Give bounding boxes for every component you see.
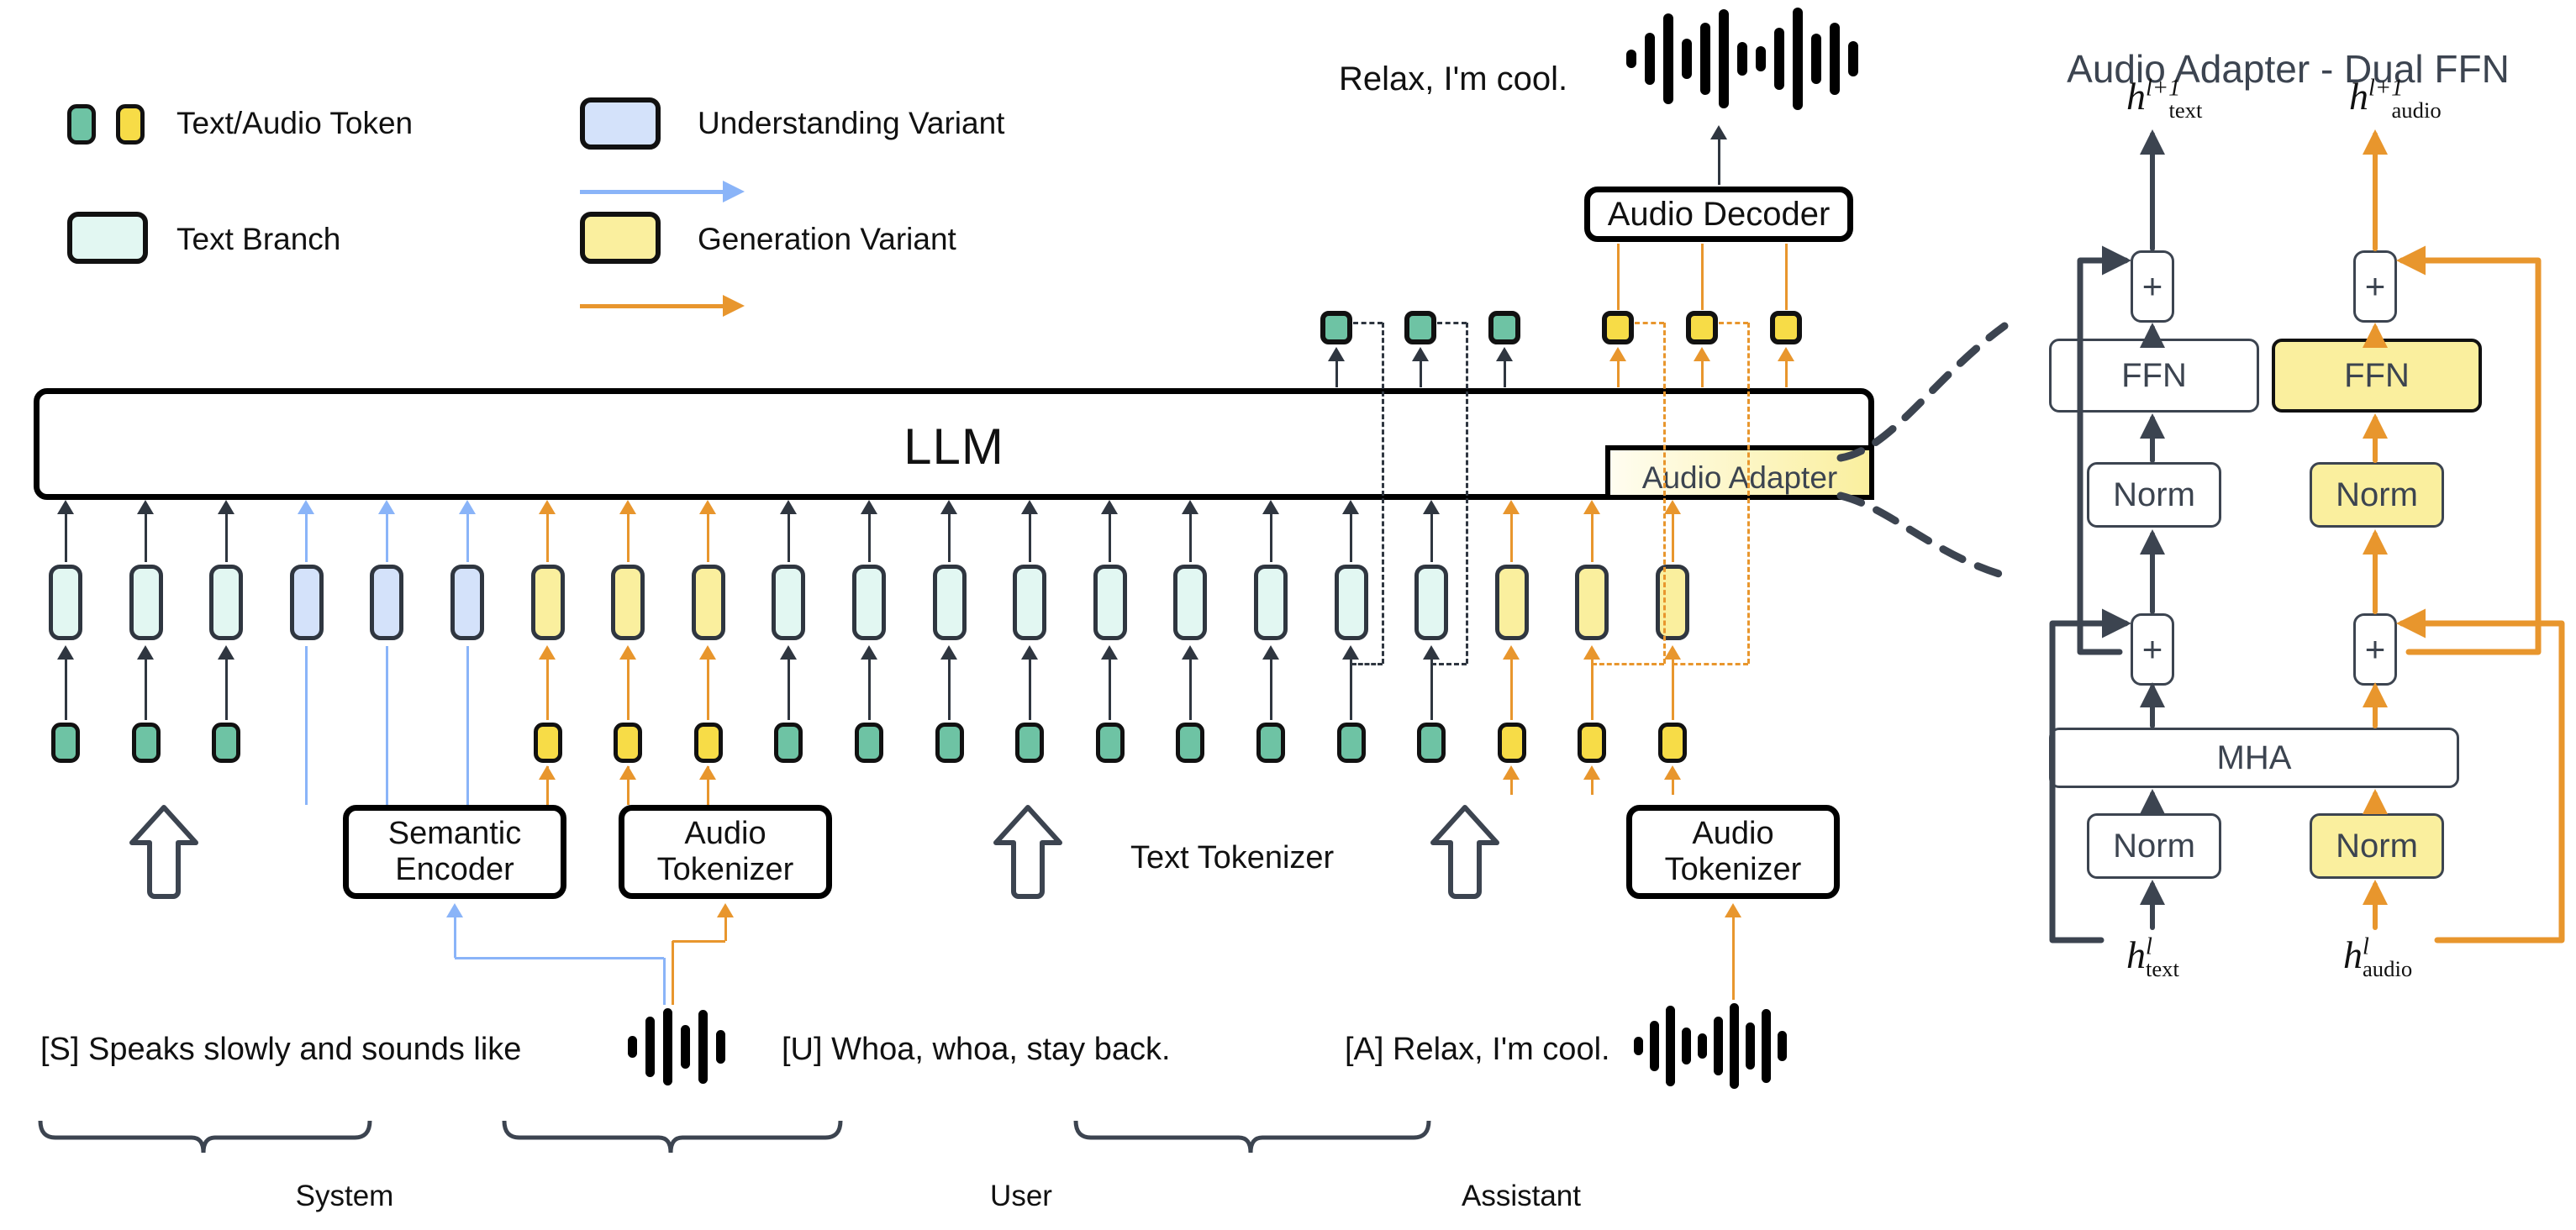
variant-box-text[interactable] — [1013, 565, 1046, 640]
arrow-to-llm — [868, 501, 871, 562]
arrow-head — [699, 500, 716, 514]
arrow-shaft — [1350, 512, 1352, 562]
arrow-shaft — [1672, 778, 1674, 795]
variant-box-generation[interactable] — [1575, 565, 1609, 640]
variant-box-understanding[interactable] — [290, 565, 324, 640]
waveform-bar — [1737, 42, 1747, 76]
arrow-head — [1609, 347, 1626, 361]
waveform-bar — [1682, 1028, 1691, 1064]
audio-tokenizer-box-assistant[interactable]: Audio Tokenizer — [1626, 805, 1840, 899]
system-turn-text: [S] Speaks slowly and sounds like — [40, 1032, 521, 1068]
arrow-token-to-variant — [1270, 646, 1272, 720]
arrow-shaft — [724, 916, 727, 941]
arrow-shaft — [707, 778, 709, 795]
arrow-head — [446, 903, 463, 917]
arrow-shaft — [707, 512, 709, 562]
arrow-to-llm — [788, 501, 790, 562]
arrow-to-llm — [1591, 501, 1594, 562]
input-token-audio[interactable] — [1658, 723, 1687, 763]
arrow-shaft — [868, 658, 871, 720]
arrow-shaft — [466, 512, 469, 562]
arrow-shaft — [1510, 658, 1513, 720]
arrow-token-to-variant — [1189, 646, 1192, 720]
audio-adapter-panel: Audio Adapter - Dual FFN hl+1text hl+1au… — [2000, 0, 2576, 1230]
arrow-to-llm — [627, 501, 630, 562]
arrow-head — [57, 645, 74, 660]
arrow-shaft — [948, 658, 951, 720]
segment-label-system: System — [261, 1180, 429, 1213]
arrow-token-to-variant — [1350, 646, 1352, 720]
wire-sys-audio-blue-h — [455, 957, 664, 959]
input-token-audio[interactable] — [694, 723, 723, 763]
plus-glyph: + — [2142, 266, 2163, 307]
variant-box-text[interactable] — [209, 565, 243, 640]
audio-tokenizer-label-2: Tokenizer — [657, 852, 794, 888]
waveform-bar — [1719, 9, 1729, 108]
arrow-head — [717, 903, 734, 917]
text-residual-ffn — [2080, 260, 2126, 652]
arrow-to-llm — [1189, 501, 1192, 562]
arrow-token-to-variant — [868, 646, 871, 720]
arrow-shaft — [1109, 658, 1111, 720]
arrow-to-audio-tokenizer-assistant — [1732, 904, 1735, 1000]
text-add-top: + — [2131, 250, 2174, 323]
arrow-to-llm — [1270, 501, 1272, 562]
input-token-audio[interactable] — [1498, 723, 1526, 763]
system-waveform — [624, 1008, 730, 1085]
assistant-turn-text: [A] Relax, I'm cool. — [1345, 1032, 1610, 1068]
waveform-bar — [1698, 1033, 1707, 1059]
arrow-token-to-variant — [1109, 646, 1111, 720]
arrow-head — [1710, 125, 1727, 139]
input-token-text[interactable] — [935, 723, 964, 763]
arrow-shaft — [1109, 512, 1111, 562]
input-label-text: hltext — [2126, 933, 2179, 982]
user-turn-text: [U] Whoa, whoa, stay back. — [782, 1032, 1171, 1068]
legend: Text/Audio Token Understanding Variant T… — [50, 92, 1227, 260]
arrow-head — [1342, 645, 1359, 660]
wire-output-to-decoder — [1617, 244, 1620, 310]
arrow-to-llm — [1510, 501, 1513, 562]
arrow-head — [1694, 347, 1710, 361]
waveform-bar — [1650, 1021, 1659, 1071]
wire-output-to-decoder — [1701, 244, 1704, 310]
arrow-shaft — [65, 512, 67, 562]
arrow-decoder-to-waveform — [1718, 126, 1720, 185]
audio-ffn-label: FFN — [2344, 357, 2410, 395]
arrow-shaft — [1189, 658, 1192, 720]
output-token-audio[interactable] — [1686, 311, 1718, 344]
arrow-head — [298, 500, 314, 514]
waveform-bar — [1793, 8, 1803, 110]
brace-assistant — [1076, 1121, 1429, 1153]
arrow-head — [1664, 500, 1681, 514]
output-token-audio[interactable] — [1602, 311, 1634, 344]
dashed-feedback-v — [1747, 323, 1750, 664]
arrow-llm-to-output — [1420, 348, 1422, 387]
dashed-feedback-v — [1466, 323, 1468, 664]
legend-label-understanding-variant: Understanding Variant — [698, 106, 1004, 141]
waveform-bar — [628, 1036, 637, 1058]
variant-box-text[interactable] — [1173, 565, 1207, 640]
text-tokenizer-arrow-user — [992, 803, 1064, 901]
arrow-token-to-variant — [1510, 646, 1513, 720]
arrow-shaft — [1270, 512, 1272, 562]
arrow-token-to-variant — [948, 646, 951, 720]
dashed-feedback-h — [1353, 322, 1383, 324]
waveform-bar — [1830, 23, 1840, 95]
arrow-head — [1182, 500, 1198, 514]
arrow-to-llm — [386, 501, 388, 562]
variant-box-generation[interactable] — [692, 565, 725, 640]
arrow-llm-to-output — [1701, 348, 1704, 387]
arrow-shaft — [868, 512, 871, 562]
text-ffn-box[interactable]: FFN — [2049, 339, 2259, 413]
wire-semantic-encoder — [466, 646, 469, 805]
waveform-bar — [1666, 1006, 1675, 1086]
audio-adapter-label: Audio Adapter — [1610, 460, 1869, 496]
arrow-head — [1664, 645, 1681, 660]
waveform-bar — [1663, 13, 1673, 104]
arrow-head — [137, 645, 154, 660]
variant-box-text[interactable] — [1093, 565, 1127, 640]
dashed-feedback-h — [1719, 322, 1748, 324]
input-token-text[interactable] — [1176, 723, 1204, 763]
waveform-bar — [698, 1010, 708, 1084]
arrow-head — [780, 500, 797, 514]
variant-box-generation[interactable] — [611, 565, 645, 640]
arrow-shaft — [145, 658, 147, 720]
arrow-head — [1328, 347, 1345, 361]
audio-add-top: + — [2353, 250, 2397, 323]
waveform-bar — [645, 1017, 655, 1077]
arrow-shaft — [1029, 658, 1031, 720]
arrow-to-llm — [65, 501, 67, 562]
audio-add-mid: + — [2353, 613, 2397, 686]
input-token-audio[interactable] — [534, 723, 562, 763]
arrow-head — [619, 645, 636, 660]
input-token-audio[interactable] — [1578, 723, 1606, 763]
audio-adapter-box[interactable]: Audio Adapter — [1605, 445, 1874, 500]
arrow-to-llm — [948, 501, 951, 562]
input-token-text[interactable] — [774, 723, 803, 763]
segment-label-user: User — [937, 1180, 1105, 1213]
arrow-audio-tokenizer-to-token — [707, 766, 709, 795]
variant-box-generation[interactable] — [1656, 565, 1689, 640]
input-token-text[interactable] — [855, 723, 883, 763]
arrow-shaft — [1029, 512, 1031, 562]
arrow-token-to-variant — [1029, 646, 1031, 720]
arrow-llm-to-output — [1617, 348, 1620, 387]
plus-glyph: + — [2365, 266, 2386, 307]
waveform-bar — [1730, 1003, 1739, 1089]
variant-box-text[interactable] — [933, 565, 967, 640]
arrow-head — [619, 765, 636, 780]
output-token-audio[interactable] — [1770, 311, 1802, 344]
arrow-shaft — [1504, 360, 1506, 387]
input-token-text[interactable] — [1256, 723, 1285, 763]
waveform-bar — [1700, 23, 1710, 95]
input-token-text[interactable] — [1337, 723, 1366, 763]
arrow-audio-tokenizer-to-token — [1672, 766, 1674, 795]
arrow-shaft — [1430, 658, 1433, 720]
plus-glyph: + — [2142, 629, 2163, 670]
arrow-head — [1503, 645, 1520, 660]
arrow-token-to-variant — [1591, 646, 1594, 720]
arrow-shaft — [65, 658, 67, 720]
arrow-to-llm — [707, 501, 709, 562]
text-norm-mha-box[interactable]: Norm — [2087, 813, 2221, 879]
arrow-head — [218, 645, 234, 660]
arrow-head — [1342, 500, 1359, 514]
variant-box-understanding[interactable] — [450, 565, 484, 640]
arrow-head — [699, 645, 716, 660]
arrow-shaft — [627, 778, 630, 795]
input-token-text[interactable] — [212, 723, 240, 763]
brace-user — [504, 1121, 840, 1153]
arrow-head — [137, 500, 154, 514]
assistant-output-text: Relax, I'm cool. — [1339, 60, 1567, 98]
audio-norm-ffn-label: Norm — [2336, 476, 2418, 514]
waveform-bar — [1848, 41, 1858, 76]
arrow-head — [1262, 645, 1279, 660]
text-norm-ffn-box[interactable]: Norm — [2087, 462, 2221, 528]
arrow-shaft — [1510, 512, 1513, 562]
output-token-text[interactable] — [1404, 311, 1436, 344]
waveform-bar — [1778, 1031, 1787, 1061]
waveform-bar — [1645, 33, 1655, 85]
input-label-audio: hlaudio — [2343, 933, 2412, 982]
variant-box-text[interactable] — [49, 565, 82, 640]
input-token-text[interactable] — [1096, 723, 1125, 763]
waveform-bar — [1762, 1009, 1771, 1083]
arrow-audio-tokenizer-to-token — [1591, 766, 1594, 795]
text-norm-ffn-label: Norm — [2113, 476, 2195, 514]
arrow-shaft — [627, 658, 630, 720]
dashed-feedback-h — [1635, 322, 1664, 324]
output-label-audio: hl+1audio — [2349, 74, 2442, 124]
semantic-encoder-box[interactable]: Semantic Encoder — [343, 805, 566, 899]
arrow-token-to-variant — [546, 646, 549, 720]
arrow-to-llm — [1109, 501, 1111, 562]
arrow-audio-tokenizer-to-token — [1510, 766, 1513, 795]
arrow-head — [539, 645, 556, 660]
output-token-text[interactable] — [1320, 311, 1352, 344]
waveform-bar — [1682, 39, 1692, 79]
arrow-shaft — [546, 658, 549, 720]
audio-norm-mha-box[interactable]: Norm — [2310, 813, 2444, 879]
waveform-bar — [1634, 1037, 1643, 1055]
legend-swatch-text-token — [67, 104, 96, 145]
arrow-shaft — [225, 512, 228, 562]
arrow-shaft — [788, 512, 790, 562]
arrow-shaft — [1732, 916, 1735, 1000]
dashed-feedback-h2 — [1592, 663, 1664, 665]
audio-norm-mha-label: Norm — [2336, 828, 2418, 865]
waveform-bar — [1746, 1022, 1755, 1070]
arrow-head — [619, 500, 636, 514]
arrow-shaft — [1510, 778, 1513, 795]
llm-box[interactable]: LLM — [34, 388, 1874, 500]
arrow-shaft — [1270, 658, 1272, 720]
brace-system — [40, 1121, 370, 1153]
audio-tokenizer-label-1: Audio — [684, 816, 766, 852]
arrow-head — [57, 500, 74, 514]
arrow-shaft — [1591, 778, 1594, 795]
dashed-feedback-h2 — [1673, 663, 1748, 665]
audio-ffn-box[interactable]: FFN — [2272, 339, 2482, 413]
wire-sys-audio-blue — [663, 958, 666, 1005]
arrow-shaft — [386, 512, 388, 562]
audio-decoder-box[interactable]: Audio Decoder — [1584, 187, 1853, 242]
variant-box-text[interactable] — [1254, 565, 1288, 640]
dashed-feedback-v — [1663, 323, 1666, 664]
dashed-feedback-h2 — [1351, 663, 1383, 665]
wire-sys-audio-orange-h — [672, 940, 725, 943]
input-token-text[interactable] — [51, 723, 80, 763]
arrow-to-llm — [1029, 501, 1031, 562]
audio-residual-ffn — [2402, 260, 2538, 652]
arrow-llm-to-output — [1335, 348, 1338, 387]
arrow-head — [940, 500, 957, 514]
arrow-token-to-variant — [1430, 646, 1433, 720]
variant-box-text[interactable] — [772, 565, 805, 640]
arrow-token-to-variant — [788, 646, 790, 720]
variant-box-text[interactable] — [1414, 565, 1448, 640]
arrow-head — [940, 645, 957, 660]
arrow-shaft — [1701, 360, 1704, 387]
arrow-shaft — [627, 512, 630, 562]
arrow-shaft — [1335, 360, 1338, 387]
variant-box-generation[interactable] — [1495, 565, 1529, 640]
arrow-shaft — [788, 658, 790, 720]
text-ffn-label: FFN — [2121, 357, 2187, 395]
llm-label: LLM — [40, 418, 1868, 476]
audio-decoder-label: Audio Decoder — [1608, 196, 1831, 234]
arrow-head — [1101, 500, 1118, 514]
dashed-feedback-h2 — [1431, 663, 1467, 665]
arrow-head — [1664, 765, 1681, 780]
audio-tokenizer-label-2: Tokenizer — [1665, 852, 1802, 888]
arrow-head — [861, 645, 877, 660]
arrow-head — [1423, 500, 1440, 514]
input-token-text[interactable] — [1015, 723, 1044, 763]
variant-box-text[interactable] — [129, 565, 163, 640]
legend-swatch-understanding-variant — [580, 97, 661, 150]
arrow-shaft — [1672, 658, 1674, 720]
arrow-to-llm — [1430, 501, 1433, 562]
input-token-text[interactable] — [1417, 723, 1446, 763]
waveform-bar — [663, 1008, 672, 1085]
waveform-bar — [1774, 28, 1784, 90]
arrow-head — [699, 765, 716, 780]
text-tokenizer-arrow-system — [128, 803, 200, 901]
audio-tokenizer-label-1: Audio — [1692, 816, 1773, 852]
text-norm-mha-label: Norm — [2113, 828, 2195, 865]
arrow-head — [1503, 500, 1520, 514]
arrow-head — [1021, 500, 1038, 514]
arrow-head — [1423, 645, 1440, 660]
segment-label-assistant: Assistant — [1420, 1180, 1622, 1213]
text-tokenizer-arrow-assistant — [1429, 803, 1501, 901]
arrow-shaft — [1591, 512, 1594, 562]
audio-tokenizer-box-system[interactable]: Audio Tokenizer — [619, 805, 832, 899]
wire-semantic-encoder — [305, 646, 308, 805]
mha-label: MHA — [2217, 739, 2292, 777]
audio-adapter-panel-title: Audio Adapter - Dual FFN — [2000, 46, 2576, 92]
text-add-mid: + — [2131, 613, 2174, 686]
arrow-shaft — [1189, 512, 1192, 562]
arrow-token-to-variant — [225, 646, 228, 720]
input-token-audio[interactable] — [614, 723, 642, 763]
audio-norm-ffn-box[interactable]: Norm — [2310, 462, 2444, 528]
waveform-bar — [681, 1025, 690, 1069]
arrow-head — [1101, 645, 1118, 660]
arrow-token-to-variant — [65, 646, 67, 720]
text-tokenizer-label: Text Tokenizer — [1130, 840, 1334, 876]
arrow-token-to-variant — [145, 646, 147, 720]
dashed-feedback-h — [1437, 322, 1467, 324]
output-token-text[interactable] — [1488, 311, 1520, 344]
arrow-to-semantic-encoder — [454, 904, 456, 958]
arrow-shaft — [1785, 360, 1788, 387]
arrow-head — [1496, 347, 1513, 361]
arrow-to-llm — [1672, 501, 1674, 562]
waveform-bar — [1756, 46, 1766, 71]
variant-box-text[interactable] — [852, 565, 886, 640]
arrow-shaft — [1718, 138, 1720, 185]
arrow-token-to-variant — [1672, 646, 1674, 720]
arrow-to-llm — [225, 501, 228, 562]
arrow-head — [1262, 500, 1279, 514]
arrow-head — [1021, 645, 1038, 660]
legend-label-text-branch: Text Branch — [176, 222, 340, 257]
mha-box[interactable]: MHA — [2049, 728, 2459, 788]
legend-swatch-audio-token — [116, 104, 145, 145]
legend-label-text-audio-token: Text/Audio Token — [176, 106, 413, 141]
arrow-to-llm — [466, 501, 469, 562]
legend-swatch-generation-variant — [580, 212, 661, 264]
arrow-llm-to-output — [1785, 348, 1788, 387]
arrow-shaft — [1591, 658, 1594, 720]
waveform-bar — [1811, 34, 1821, 84]
arrow-head — [1778, 347, 1794, 361]
input-token-text[interactable] — [132, 723, 161, 763]
arrow-head — [1182, 645, 1198, 660]
output-waveform — [1622, 8, 1862, 109]
arrow-shaft — [305, 512, 308, 562]
arrow-shaft — [145, 512, 147, 562]
arrow-token-to-variant — [627, 646, 630, 720]
arrow-shaft — [1430, 512, 1433, 562]
arrow-shaft — [1350, 658, 1352, 720]
adapter-panel-wires — [2000, 0, 2576, 1230]
arrow-head — [780, 645, 797, 660]
arrow-shaft — [454, 916, 456, 958]
semantic-encoder-label-1: Semantic — [388, 816, 521, 852]
arrow-head — [1583, 765, 1600, 780]
arrow-shaft — [707, 658, 709, 720]
arrow-to-audio-tokenizer — [724, 904, 727, 941]
arrow-token-to-variant — [707, 646, 709, 720]
variant-box-understanding[interactable] — [370, 565, 403, 640]
wire-sys-audio-orange — [672, 941, 674, 1005]
arrow-head — [539, 765, 556, 780]
arrow-to-llm — [1350, 501, 1352, 562]
variant-box-text[interactable] — [1335, 565, 1368, 640]
arrow-to-llm — [546, 501, 549, 562]
variant-box-generation[interactable] — [531, 565, 565, 640]
